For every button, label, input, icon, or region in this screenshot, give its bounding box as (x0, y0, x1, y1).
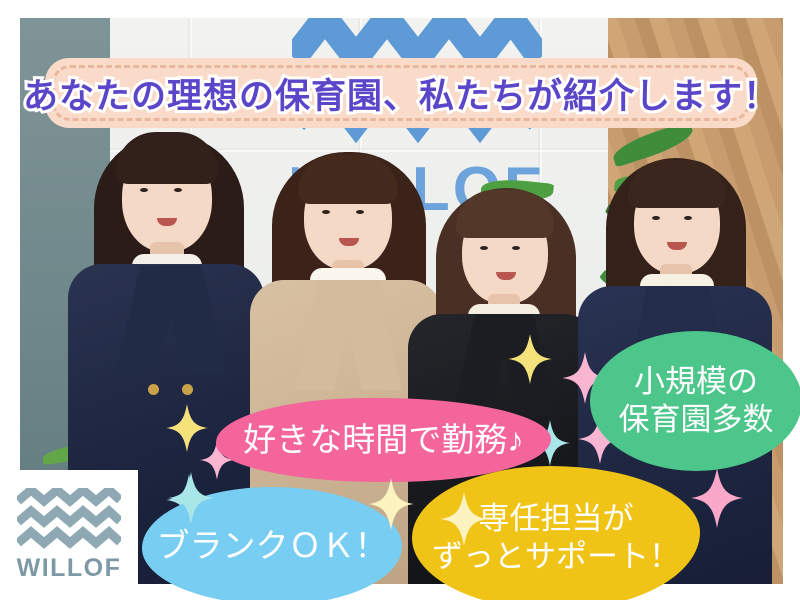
headline-text: あなたの理想の保育園、私たちが紹介します！ (23, 68, 779, 119)
bubble-green-line1: 小規模の (619, 363, 774, 401)
sparkle-icon (368, 478, 414, 530)
willof-zigzag-icon (17, 488, 121, 550)
sparkle-icon (440, 492, 488, 546)
bubble-pink-text: 好きな時間で勤務♪ (243, 420, 524, 460)
bubble-blue-text: ブランクＯＫ！ (157, 526, 388, 566)
bubble-flexible-hours: 好きな時間で勤務♪ (216, 398, 551, 482)
willof-logo-block: WILLOF (0, 470, 138, 600)
sparkle-icon (168, 472, 214, 524)
bubble-green-line2: 保育園多数 (619, 401, 774, 439)
bubble-small-nursery: 小規模の 保育園多数 (590, 331, 800, 471)
headline-banner: あなたの理想の保育園、私たちが紹介します！ (45, 58, 757, 128)
sparkle-icon (690, 468, 744, 528)
sparkle-icon (508, 334, 552, 384)
willof-wordmark: WILLOF (17, 554, 122, 583)
poster-canvas: WILLOF (0, 0, 800, 600)
